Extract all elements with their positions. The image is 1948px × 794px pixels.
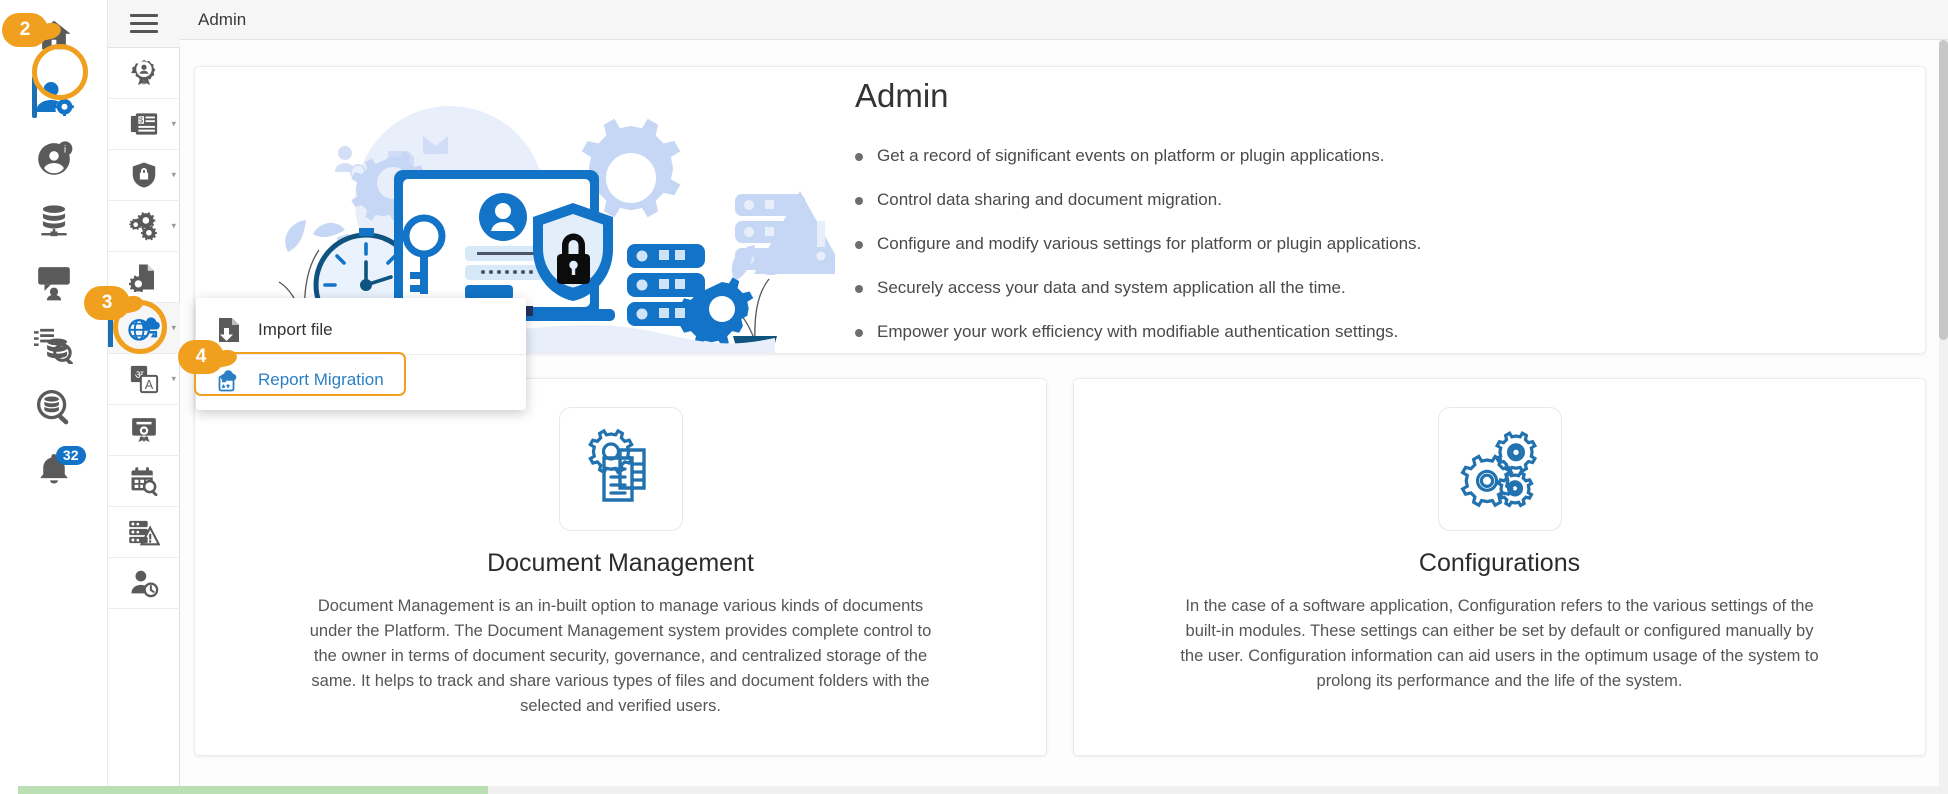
subnav-item-document-config[interactable] — [108, 252, 180, 303]
hero-bullet-label: Control data sharing and document migrat… — [877, 189, 1222, 211]
database-stack-icon — [35, 202, 73, 240]
card-configurations[interactable]: Configurations In the case of a software… — [1073, 378, 1926, 756]
hero-text: Admin Get a record of significant events… — [835, 77, 1421, 343]
rail-item-query[interactable] — [0, 376, 108, 438]
dropdown-item-import-file[interactable]: Import file — [196, 304, 526, 354]
user-settings-icon — [33, 78, 75, 116]
three-gears-icon-box — [1438, 407, 1562, 531]
download-progress-bar — [18, 786, 488, 794]
database-magnifier-icon — [35, 388, 73, 426]
gears-icon — [128, 211, 160, 241]
rail-item-home[interactable] — [0, 4, 108, 66]
subnav-item-audit-log[interactable]: $ ▾ — [108, 99, 180, 150]
bullet-dot-icon — [855, 197, 863, 205]
certificate-icon — [129, 415, 159, 445]
document-gear-stack-icon-box — [559, 407, 683, 531]
vertical-scrollbar[interactable] — [1939, 40, 1948, 794]
document-gear-stack-icon — [580, 428, 662, 510]
hero-bullet: Empower your work efficiency with modifi… — [855, 321, 1421, 343]
breadcrumb: Admin — [198, 10, 246, 30]
hamburger-menu-button[interactable] — [108, 0, 180, 48]
dropdown-item-label: Report Migration — [258, 370, 384, 390]
hamburger-icon — [130, 9, 158, 38]
three-gears-icon — [1459, 428, 1541, 510]
rail-item-user-admin[interactable] — [0, 66, 108, 128]
bullet-dot-icon — [855, 285, 863, 293]
card-title: Document Management — [225, 549, 1016, 578]
subnav-item-server-alert[interactable] — [108, 507, 180, 558]
subnav-item-security[interactable]: ▾ — [108, 150, 180, 201]
subnav-item-settings[interactable]: ▾ — [108, 201, 180, 252]
top-bar: Admin — [180, 0, 1948, 40]
card-title: Configurations — [1104, 549, 1895, 578]
user-info-icon: i — [35, 140, 73, 178]
subnav-item-translation[interactable]: अ A ▾ — [108, 354, 180, 405]
subnav-item-roles[interactable] — [108, 48, 180, 99]
dropdown-item-report-migration[interactable]: Report Migration — [196, 354, 526, 404]
user-clock-icon — [129, 568, 159, 598]
subnav-item-certificates[interactable] — [108, 405, 180, 456]
shield-lock-icon — [129, 160, 159, 190]
vertical-scrollbar-thumb[interactable] — [1939, 40, 1948, 340]
chevron-down-icon: ▾ — [171, 374, 176, 385]
rail-item-data-search[interactable] — [0, 314, 108, 376]
svg-text:A: A — [145, 378, 154, 392]
rail-item-notifications[interactable]: 32 — [0, 438, 108, 500]
feature-cards: Document Management Document Management … — [194, 378, 1926, 756]
app-root: i — [0, 0, 1948, 794]
rail-active-indicator — [32, 76, 37, 118]
card-document-management[interactable]: Document Management Document Management … — [194, 378, 1047, 756]
rail-item-user-info[interactable]: i — [0, 128, 108, 190]
file-download-icon — [214, 317, 244, 343]
hero-bullet: Securely access your data and system app… — [855, 277, 1421, 299]
rail-item-broadcast[interactable] — [0, 252, 108, 314]
bullet-dot-icon — [855, 241, 863, 249]
secondary-nav: $ ▾ ▾ ▾ — [108, 0, 180, 794]
gear-badge-user-icon — [129, 58, 159, 88]
bullet-dot-icon — [855, 329, 863, 337]
calendar-search-icon — [129, 466, 159, 496]
hero-bullet: Control data sharing and document migrat… — [855, 189, 1421, 211]
hero-bullet-label: Get a record of significant events on pl… — [877, 145, 1384, 167]
hero-bullet: Get a record of significant events on pl… — [855, 145, 1421, 167]
subnav-item-data-migration[interactable]: ▾ — [108, 303, 180, 354]
subnav-active-indicator — [108, 309, 113, 347]
subnav-item-user-history[interactable] — [108, 558, 180, 609]
chevron-down-icon: ▾ — [171, 221, 176, 232]
subnav-item-schedule-search[interactable] — [108, 456, 180, 507]
globe-cloud-transfer-icon — [127, 313, 161, 343]
notification-count-badge: 32 — [56, 446, 86, 465]
rail-item-data-stack[interactable] — [0, 190, 108, 252]
report-migration-icon — [214, 367, 244, 393]
card-description: In the case of a software application, C… — [1180, 594, 1820, 694]
page-title: Admin — [855, 77, 1421, 115]
server-warning-icon — [128, 517, 160, 547]
hero-bullet-label: Empower your work efficiency with modifi… — [877, 321, 1398, 343]
hero-bullet-label: Configure and modify various settings fo… — [877, 233, 1421, 255]
bullet-dot-icon — [855, 153, 863, 161]
translate-icon: अ A — [129, 364, 159, 394]
main-content: Admin Get a record of significant events… — [180, 40, 1948, 794]
card-description: Document Management is an in-built optio… — [301, 594, 941, 719]
document-database-search-icon — [34, 326, 74, 364]
announcement-user-icon — [35, 264, 73, 302]
hero-bullet-label: Securely access your data and system app… — [877, 277, 1346, 299]
svg-text:i: i — [63, 145, 65, 156]
home-icon — [35, 16, 73, 54]
hero-bullet: Configure and modify various settings fo… — [855, 233, 1421, 255]
document-gear-icon — [129, 262, 159, 292]
chevron-down-icon: ▾ — [171, 170, 176, 181]
chevron-down-icon: ▾ — [171, 323, 176, 334]
chevron-down-icon: ▾ — [171, 119, 176, 130]
invoice-icon: $ — [129, 109, 159, 139]
primary-icon-rail: i — [0, 0, 108, 794]
migration-dropdown-menu: Import file Report Migration — [196, 298, 526, 410]
dropdown-item-label: Import file — [258, 320, 333, 340]
